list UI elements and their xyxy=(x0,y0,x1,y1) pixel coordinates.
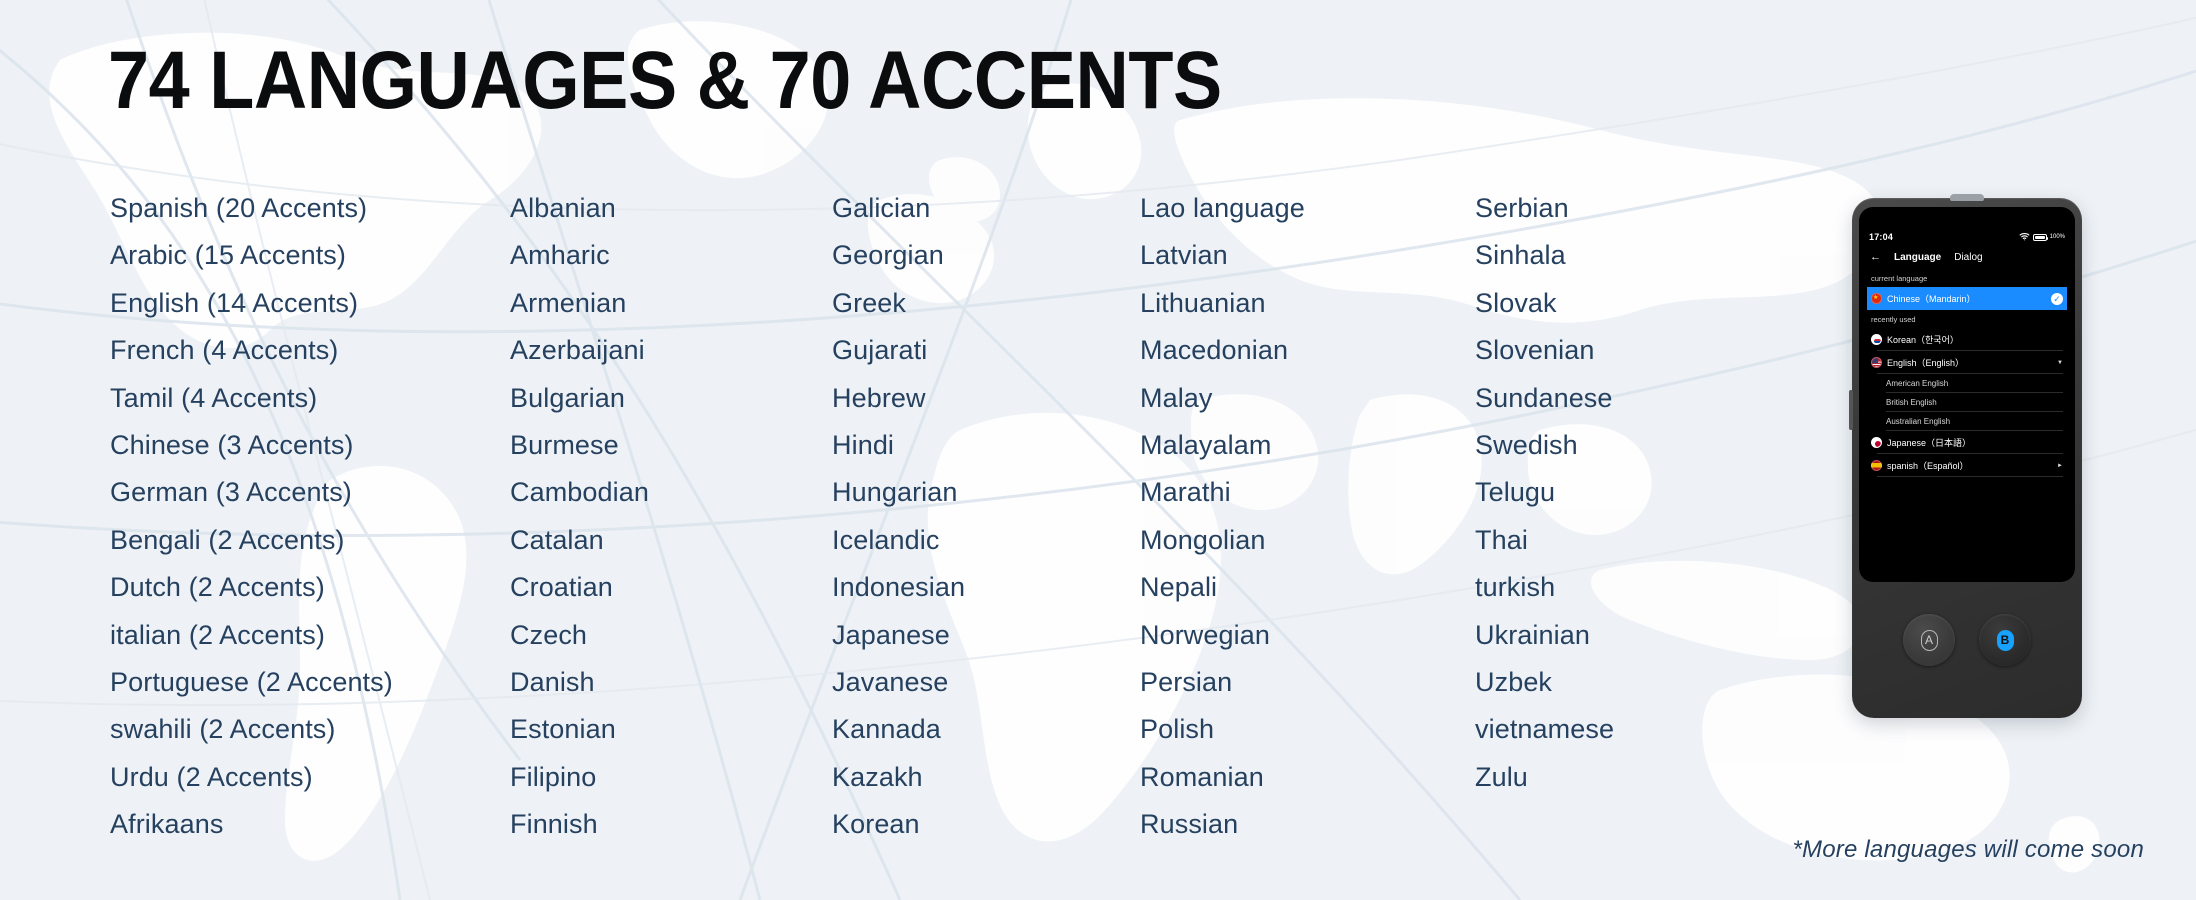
language-item: Bengali (2 Accents) xyxy=(110,517,510,564)
device-language-row-english[interactable]: English（English） ▼ xyxy=(1867,351,2067,374)
status-indicators: 100% xyxy=(2019,232,2065,243)
status-time: 17:04 xyxy=(1869,232,1893,242)
language-item: Slovenian xyxy=(1475,327,1795,374)
language-item: Albanian xyxy=(510,185,832,232)
device-language-row-korean[interactable]: Korean（한국어） xyxy=(1867,328,2067,351)
language-item: English (14 Accents) xyxy=(110,280,510,327)
language-item: French (4 Accents) xyxy=(110,327,510,374)
language-item: Norwegian xyxy=(1140,612,1475,659)
back-arrow-icon[interactable]: ← xyxy=(1870,252,1881,263)
status-bar: 17:04 100% xyxy=(1867,229,2067,245)
device-language-row-spanish[interactable]: spanish（Español） ► xyxy=(1867,454,2067,477)
language-column-5: Serbian Sinhala Slovak Slovenian Sundane… xyxy=(1475,185,1795,849)
language-item: Macedonian xyxy=(1140,327,1475,374)
device-accent-australian-english[interactable]: Australian English xyxy=(1867,412,2067,431)
language-item: Sundanese xyxy=(1475,375,1795,422)
section-header-current-language: current language xyxy=(1867,269,2067,287)
language-item: Sinhala xyxy=(1475,232,1795,279)
language-item: Hindi xyxy=(832,422,1140,469)
language-item: Danish xyxy=(510,659,832,706)
device-screen: 17:04 100% xyxy=(1867,229,2067,571)
language-item: Slovak xyxy=(1475,280,1795,327)
language-item: Latvian xyxy=(1140,232,1475,279)
language-item: Russian xyxy=(1140,801,1475,848)
language-item: Finnish xyxy=(510,801,832,848)
language-item: Czech xyxy=(510,612,832,659)
language-column-1: Spanish (20 Accents) Arabic (15 Accents)… xyxy=(110,185,510,849)
language-item: Urdu (2 Accents) xyxy=(110,754,510,801)
language-item: Japanese xyxy=(832,612,1140,659)
device-button-b[interactable]: B xyxy=(1979,614,2031,666)
device-button-a[interactable]: A xyxy=(1903,614,1955,666)
language-column-2: Albanian Amharic Armenian Azerbaijani Bu… xyxy=(510,185,832,849)
language-item: Armenian xyxy=(510,280,832,327)
button-b-label: B xyxy=(1997,630,2014,651)
chevron-down-icon[interactable]: ▼ xyxy=(2057,360,2063,366)
language-item: Polish xyxy=(1140,706,1475,753)
language-item: Galician xyxy=(832,185,1140,232)
footnote-more-languages: *More languages will come soon xyxy=(1792,836,2144,864)
language-column-4: Lao language Latvian Lithuanian Macedoni… xyxy=(1140,185,1475,849)
section-header-recently-used: recently used xyxy=(1867,310,2067,328)
tab-dialog[interactable]: Dialog xyxy=(1954,252,1982,263)
button-a-label: A xyxy=(1921,630,1938,651)
wifi-icon xyxy=(2019,232,2030,243)
language-item: Arabic (15 Accents) xyxy=(110,232,510,279)
language-column-3: Galician Georgian Greek Gujarati Hebrew … xyxy=(832,185,1140,849)
language-item: italian (2 Accents) xyxy=(110,612,510,659)
chevron-right-icon[interactable]: ► xyxy=(2057,463,2063,469)
device-language-name: Korean（한국어） xyxy=(1887,333,2063,346)
page-title: 74 LANGUAGES & 70 ACCENTS xyxy=(108,38,1222,124)
language-item: Korean xyxy=(832,801,1140,848)
tab-language[interactable]: Language xyxy=(1894,252,1941,263)
device-language-name: spanish（Español） xyxy=(1887,459,2052,472)
language-item: Burmese xyxy=(510,422,832,469)
flag-korea-icon xyxy=(1871,334,1882,345)
speaker-notch-icon xyxy=(1950,194,1984,201)
language-item: Malay xyxy=(1140,375,1475,422)
language-item: Dutch (2 Accents) xyxy=(110,564,510,611)
language-item: Amharic xyxy=(510,232,832,279)
language-item: Hebrew xyxy=(832,375,1140,422)
language-item: Filipino xyxy=(510,754,832,801)
language-item: Lao language xyxy=(1140,185,1475,232)
language-item: swahili (2 Accents) xyxy=(110,706,510,753)
language-item: Bulgarian xyxy=(510,375,832,422)
language-item: Marathi xyxy=(1140,469,1475,516)
device-language-name: Japanese（日本語） xyxy=(1887,436,2063,449)
language-item: Afrikaans xyxy=(110,801,510,848)
language-item: Serbian xyxy=(1475,185,1795,232)
battery-percent: 100% xyxy=(2050,234,2065,240)
language-item: Portuguese (2 Accents) xyxy=(110,659,510,706)
flag-spain-icon xyxy=(1871,460,1882,471)
language-item: Telugu xyxy=(1475,469,1795,516)
language-columns: Spanish (20 Accents) Arabic (15 Accents)… xyxy=(110,185,1810,849)
device-button-row: A B xyxy=(1852,590,2082,690)
language-item: Icelandic xyxy=(832,517,1140,564)
flag-usa-icon xyxy=(1871,357,1882,368)
battery-icon xyxy=(2033,234,2047,241)
language-item: Thai xyxy=(1475,517,1795,564)
language-item: Croatian xyxy=(510,564,832,611)
language-item: Greek xyxy=(832,280,1140,327)
language-item: Catalan xyxy=(510,517,832,564)
navigation-bar: ← Language Dialog xyxy=(1867,245,2067,269)
language-item: Mongolian xyxy=(1140,517,1475,564)
check-circle-icon: ✓ xyxy=(2051,293,2063,305)
language-item: Uzbek xyxy=(1475,659,1795,706)
language-item: Romanian xyxy=(1140,754,1475,801)
language-item: Javanese xyxy=(832,659,1140,706)
language-item: Kannada xyxy=(832,706,1140,753)
language-item: vietnamese xyxy=(1475,706,1795,753)
device-language-row-japanese[interactable]: Japanese（日本語） xyxy=(1867,431,2067,454)
language-item: German (3 Accents) xyxy=(110,469,510,516)
language-item: Persian xyxy=(1140,659,1475,706)
language-item: Nepali xyxy=(1140,564,1475,611)
device-accent-british-english[interactable]: British English xyxy=(1867,393,2067,412)
page-root: 74 LANGUAGES & 70 ACCENTS Spanish (20 Ac… xyxy=(0,0,2196,900)
language-item: Swedish xyxy=(1475,422,1795,469)
language-item: Gujarati xyxy=(832,327,1140,374)
device-language-name: Chinese（Mandarin） xyxy=(1887,292,2046,305)
device-side-button[interactable] xyxy=(1849,390,1853,430)
language-item: Chinese (3 Accents) xyxy=(110,422,510,469)
language-item: Tamil (4 Accents) xyxy=(110,375,510,422)
device-bezel: 17:04 100% xyxy=(1859,207,2075,582)
device-language-row-current[interactable]: Chinese（Mandarin） ✓ xyxy=(1867,287,2067,310)
device-language-name: English（English） xyxy=(1887,356,2052,369)
language-item: Hungarian xyxy=(832,469,1140,516)
language-item: Kazakh xyxy=(832,754,1140,801)
language-item: Indonesian xyxy=(832,564,1140,611)
language-item: Ukrainian xyxy=(1475,612,1795,659)
language-item: Spanish (20 Accents) xyxy=(110,185,510,232)
flag-japan-icon xyxy=(1871,437,1882,448)
language-item: Cambodian xyxy=(510,469,832,516)
language-item: Azerbaijani xyxy=(510,327,832,374)
device-accent-american-english[interactable]: American English xyxy=(1867,374,2067,393)
language-item: Estonian xyxy=(510,706,832,753)
flag-china-icon xyxy=(1871,293,1882,304)
language-item: turkish xyxy=(1475,564,1795,611)
language-item: Lithuanian xyxy=(1140,280,1475,327)
language-item: Zulu xyxy=(1475,754,1795,801)
translator-device: 17:04 100% xyxy=(1852,198,2082,718)
language-item: Georgian xyxy=(832,232,1140,279)
language-item: Malayalam xyxy=(1140,422,1475,469)
